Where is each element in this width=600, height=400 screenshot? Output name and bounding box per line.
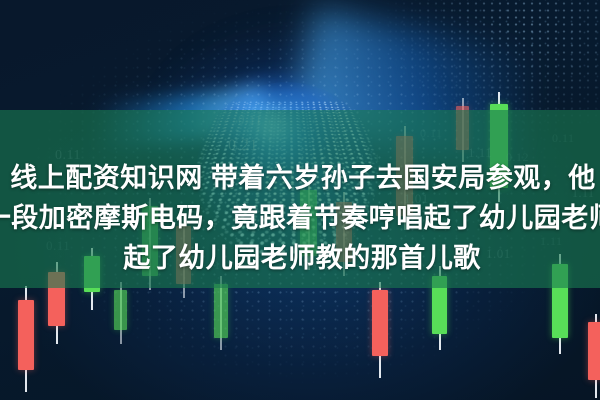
candlestick-body <box>18 300 34 370</box>
headline-text: 线上配资知识网 带着六岁孙子去国安局参观，他 一段加密摩斯电码，竟跟着节奏哼唱起… <box>0 158 600 278</box>
banner-image: 0.110.110.210.111.011.010.113.111.010.11… <box>0 0 600 400</box>
candlestick-body <box>114 290 127 330</box>
headline-line-1: 线上配资知识网 带着六岁孙子去国安局参观，他 <box>0 158 600 198</box>
headline-line-3: 起了幼儿园老师教的那首儿歌 <box>0 238 600 278</box>
candlestick-body <box>372 290 388 356</box>
headline-line-2: 一段加密摩斯电码，竟跟着节奏哼唱起了幼儿园老师 <box>0 198 600 238</box>
candlestick-body <box>588 322 600 380</box>
candlestick-body <box>214 284 228 338</box>
